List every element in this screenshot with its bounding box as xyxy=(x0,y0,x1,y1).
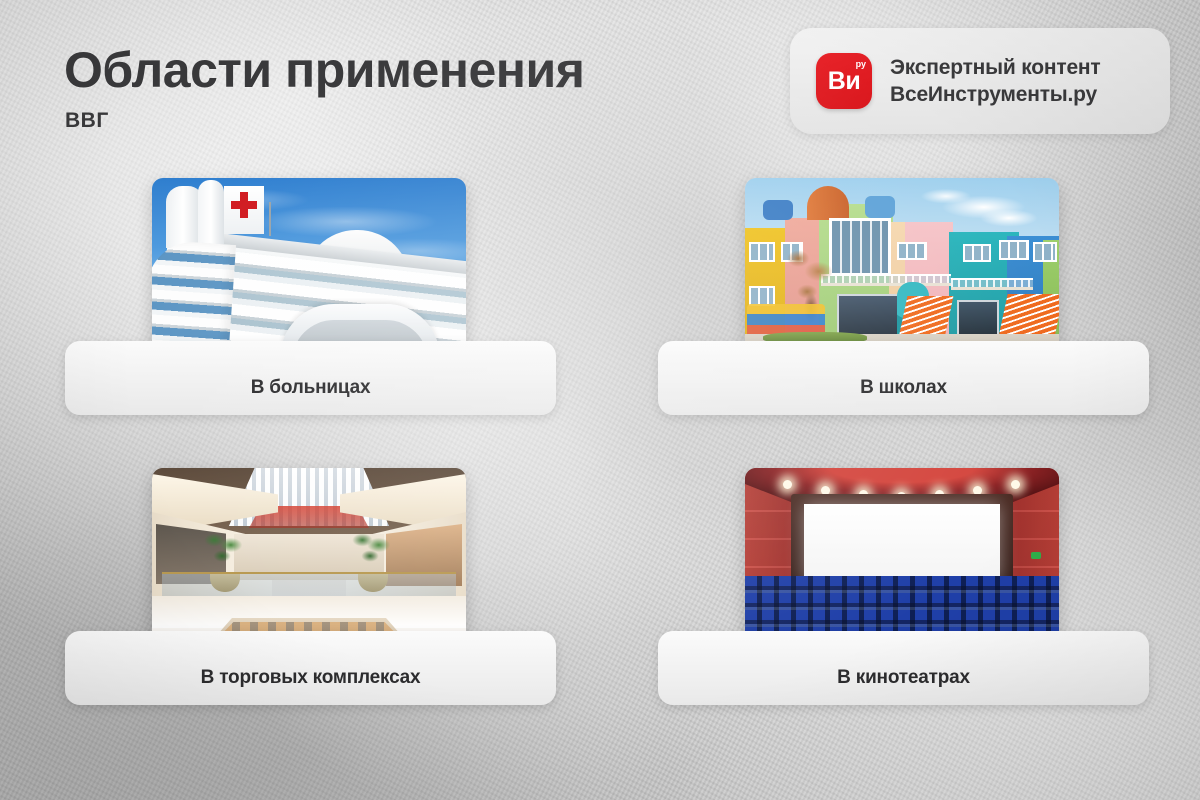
application-areas-grid: В больницах xyxy=(0,0,1200,800)
application-label: В больницах xyxy=(251,357,371,399)
facade-block-cream xyxy=(889,222,941,338)
glass-bay-window xyxy=(829,218,891,276)
shop-window-left xyxy=(156,524,226,584)
far-end-storefronts xyxy=(234,534,384,580)
ceiling-spotlight xyxy=(973,486,982,495)
cinema-hall-photo xyxy=(745,468,1059,650)
potted-plant-right xyxy=(348,530,396,580)
secondary-entrance xyxy=(957,300,999,338)
window xyxy=(781,242,803,262)
slide-canvas: Области применения ВВГ Ви ру Экспертный … xyxy=(0,0,1200,800)
hospital-building-photo xyxy=(152,178,466,360)
facade-block-rose xyxy=(905,222,953,338)
roof-tank-left xyxy=(763,200,793,220)
sky-clouds xyxy=(152,178,466,360)
sky-clouds xyxy=(745,178,1059,360)
orange-stairs-left xyxy=(899,296,954,338)
window xyxy=(963,244,991,262)
glass-balustrade xyxy=(162,572,456,598)
storefront-wall-right xyxy=(346,512,466,606)
school-building-photo xyxy=(745,178,1059,360)
antenna-mast xyxy=(269,202,271,236)
playground-equipment xyxy=(747,304,825,338)
facade-block-teal xyxy=(949,232,1019,338)
exit-sign-icon xyxy=(1031,552,1041,559)
balcony-railing-right xyxy=(951,278,1033,290)
front-aisle-carpet xyxy=(789,582,1015,610)
window xyxy=(1033,242,1057,262)
cinema-screen xyxy=(804,504,1000,582)
planter-right xyxy=(358,572,388,592)
facade-block-green-right xyxy=(1043,240,1059,338)
red-wall-left xyxy=(745,484,819,616)
proscenium-frame xyxy=(791,494,1013,608)
application-label-card[interactable]: В больницах xyxy=(65,341,556,415)
application-label: В школах xyxy=(860,357,947,399)
glass-skylight xyxy=(229,468,389,526)
ceiling-spotlight xyxy=(783,480,792,489)
roof-tower-right xyxy=(198,180,224,244)
red-ceiling xyxy=(745,468,1059,508)
application-label: В кинотеатрах xyxy=(837,647,970,689)
cove-lighting-right xyxy=(340,474,466,534)
storefront-wall-left xyxy=(152,512,272,606)
ceiling-spotlight xyxy=(859,490,868,499)
potted-plant-left xyxy=(200,530,248,580)
autumn-tree xyxy=(779,242,843,334)
orange-cylinder-tower xyxy=(807,186,849,220)
shopping-mall-photo xyxy=(152,468,466,650)
red-structural-beam xyxy=(249,506,369,528)
ceiling-spotlight xyxy=(897,492,906,501)
ceiling-spotlight xyxy=(1011,480,1020,489)
application-label-card[interactable]: В торговых комплексах xyxy=(65,631,556,705)
window xyxy=(749,242,775,262)
facade-block-green xyxy=(819,204,893,338)
roof-tower-left xyxy=(166,186,204,248)
dark-ceiling xyxy=(152,468,466,534)
planter-left xyxy=(210,572,240,592)
balcony-railing-left xyxy=(821,274,951,286)
roof-slab xyxy=(191,230,466,278)
roof-dome xyxy=(304,230,410,282)
window xyxy=(749,286,775,306)
ceiling-spotlight xyxy=(935,490,944,499)
facade-block-blue xyxy=(1007,236,1059,338)
window xyxy=(999,240,1029,260)
red-cross-icon xyxy=(240,192,248,218)
application-label: В торговых комплексах xyxy=(201,647,421,689)
red-cross-sign-panel xyxy=(224,186,264,234)
roof-tank-right xyxy=(865,196,895,218)
cove-lighting-left xyxy=(152,474,278,534)
red-wall-right xyxy=(985,484,1059,616)
ceiling-spotlight xyxy=(821,486,830,495)
playground-slide xyxy=(897,282,929,338)
shop-window-right xyxy=(386,524,462,586)
upper-floor-deck xyxy=(152,596,466,628)
orange-stairs-right xyxy=(998,294,1059,338)
application-label-card[interactable]: В кинотеатрах xyxy=(658,631,1149,705)
main-entrance xyxy=(837,294,903,338)
window xyxy=(897,242,927,260)
facade-block-yellow xyxy=(745,228,807,338)
red-cross-icon-bar xyxy=(231,201,257,209)
application-label-card[interactable]: В школах xyxy=(658,341,1149,415)
facade-block-pink xyxy=(785,218,829,338)
